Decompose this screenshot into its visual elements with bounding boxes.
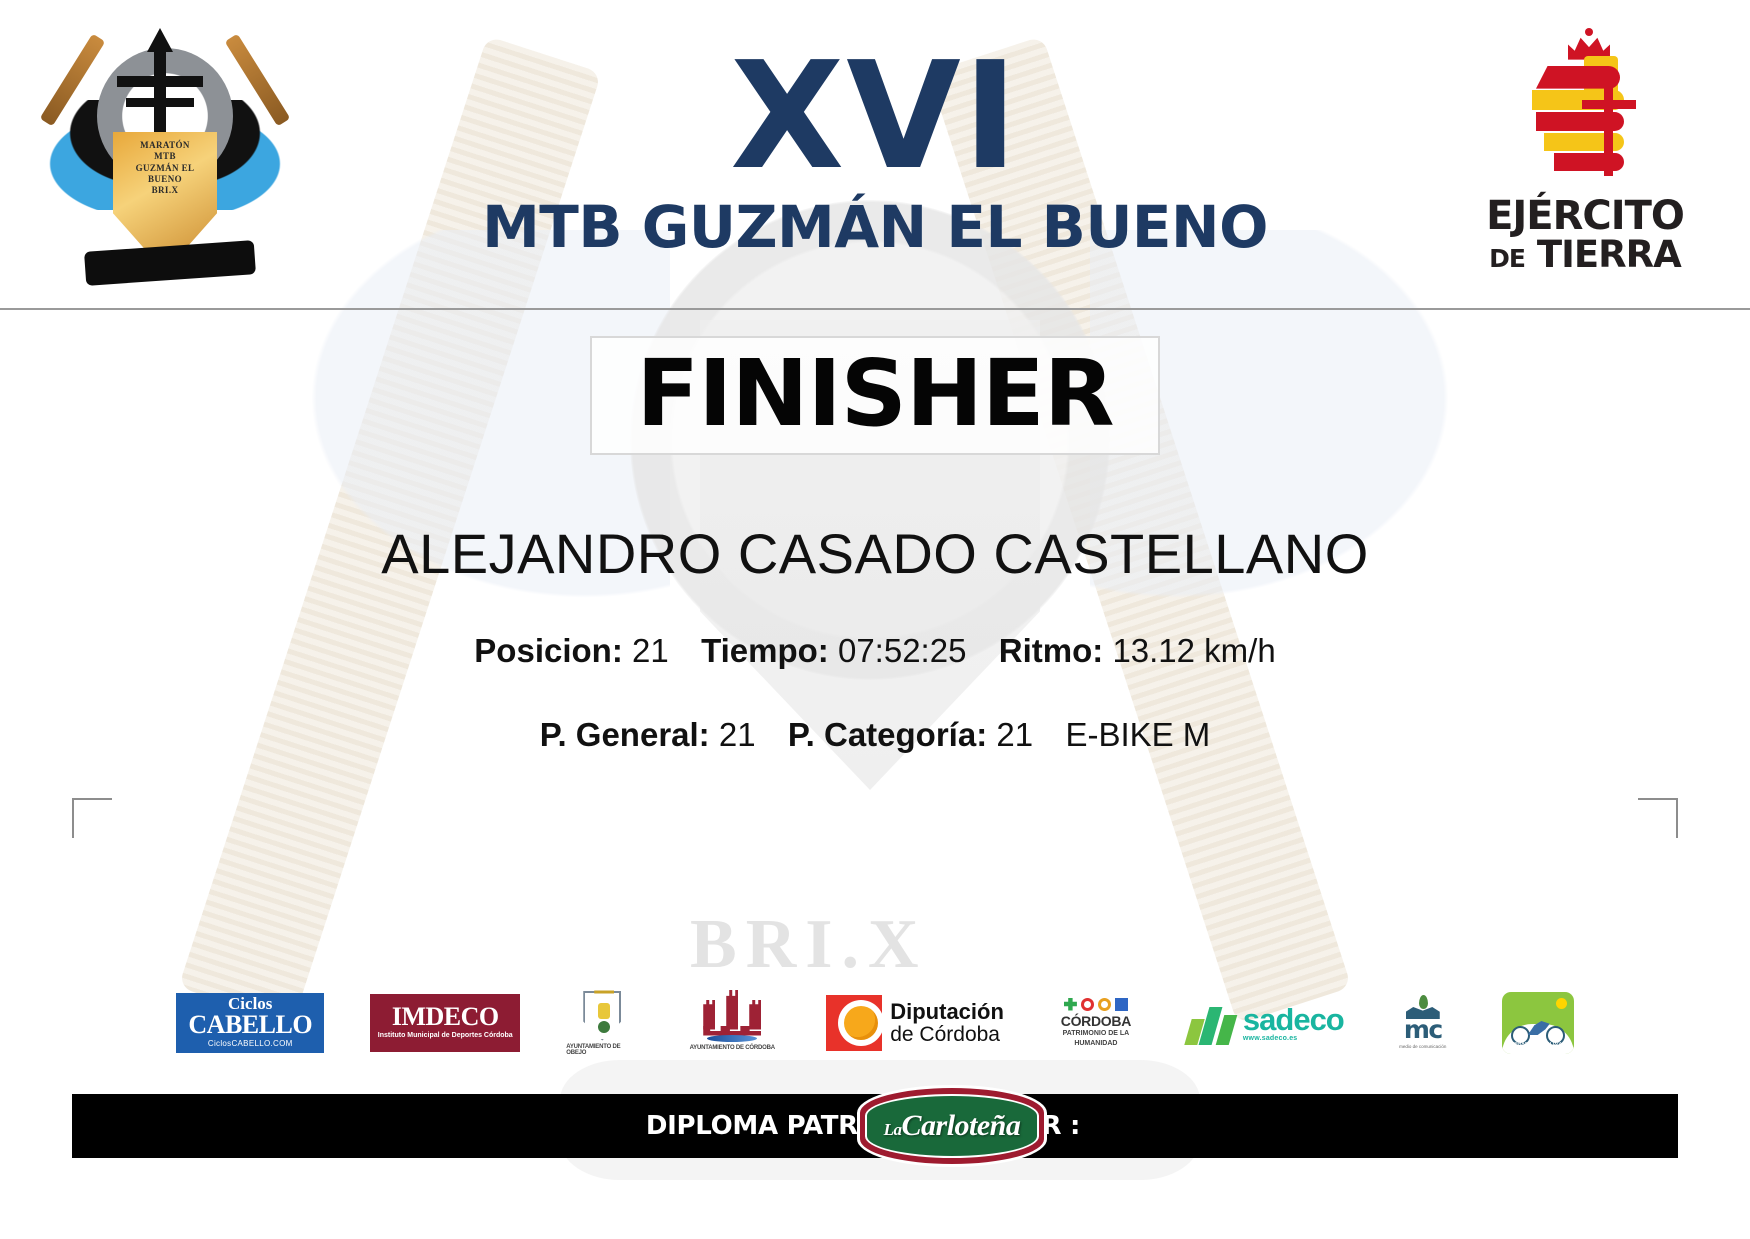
header-right: EJÉRCITO DE TIERRA	[1420, 34, 1750, 275]
logo-text-line1: MARATÓN	[140, 140, 190, 151]
crop-mark-top-right	[1638, 798, 1678, 838]
athlete-name: ALEJANDRO CASADO CASTELLANO	[0, 521, 1750, 586]
time-label: Tiempo:	[701, 632, 829, 669]
cabello-line3: CiclosCABELLO.COM	[208, 1038, 293, 1051]
patrimonio-icons	[1064, 998, 1128, 1011]
pace-label: Ritmo:	[999, 632, 1103, 669]
event-edition: XVI	[330, 47, 1420, 186]
mc-leaf-icon	[1419, 995, 1428, 1009]
stats-row-secondary: P. General: 21 P. Categoría: 21 E-BIKE M	[0, 716, 1750, 754]
mc-line2: medio de comunicación	[1399, 1044, 1446, 1049]
imdeco-line2: Instituto Municipal de Deportes Córdoba	[378, 1030, 513, 1043]
sponsor-ayuntamiento-cordoba: AYUNTAMIENTO DE CÓRDOBA	[684, 996, 780, 1051]
cabello-line2: CABELLO	[188, 1012, 312, 1038]
logo-text-line2: MTB	[154, 151, 176, 162]
cordoba-ayuntamiento-caption: AYUNTAMIENTO DE CÓRDOBA	[690, 1045, 775, 1051]
carlotena-text: LaCarloteña	[884, 1109, 1021, 1143]
logo-cross-bar-lower-icon	[126, 98, 194, 107]
carlotena-brand: Carloteña	[902, 1109, 1021, 1142]
category-name: E-BIKE M	[1065, 716, 1210, 753]
federacion-caption: FEDERACIÓN ANDALUZA DE CICLISMO	[1506, 1041, 1570, 1053]
obejo-coat-of-arms-icon	[583, 991, 621, 1041]
patrimonio-ring-orange-icon	[1098, 998, 1111, 1011]
header: MARATÓN MTB GUZMÁN EL BUENO BRI.X XVI MT…	[0, 0, 1750, 310]
sponsor-ayuntamiento-obejo: AYUNTAMIENTO DE OBEJO	[566, 991, 638, 1056]
river-icon	[707, 1035, 757, 1042]
diploma-page: BRI.X MARATÓN MTB GUZMÁN EL BUENO	[0, 0, 1750, 1239]
header-left: MARATÓN MTB GUZMÁN EL BUENO BRI.X	[0, 14, 330, 294]
logo-ribbon-icon	[84, 240, 256, 286]
sponsor-row: Ciclos CABELLO CiclosCABELLO.COM IMDECO …	[0, 968, 1750, 1078]
patrimonio-square-blue-icon	[1115, 998, 1128, 1011]
emblem-band-5-icon	[1554, 153, 1624, 171]
finisher-title-wrap: FINISHER	[0, 336, 1750, 455]
event-name: MTB GUZMÁN EL BUENO	[330, 193, 1420, 261]
federacion-sun-icon	[1556, 998, 1567, 1009]
logo-cross-bar-upper-icon	[117, 76, 203, 87]
patrimonio-ring-red-icon	[1081, 998, 1094, 1011]
castle-tower-1-icon	[703, 1000, 715, 1030]
position-label: Posicion:	[474, 632, 623, 669]
castle-tower-2-icon	[726, 990, 738, 1030]
athlete-block: ALEJANDRO CASADO CASTELLANO Posicion: 21…	[0, 521, 1750, 754]
santiago-cross-horizontal-icon	[1582, 100, 1636, 109]
time-value: 07:52:25	[838, 632, 966, 669]
castle-tower-3-icon	[749, 1000, 761, 1030]
mc-mark-icon	[1406, 997, 1440, 1017]
category-position-label: P. Categoría:	[788, 716, 987, 753]
diputacion-line2: de Córdoba	[890, 1024, 1004, 1046]
logo-text-line4: BUENO	[148, 174, 182, 185]
header-title-block: XVI MTB GUZMÁN EL BUENO	[330, 47, 1420, 260]
carlotena-prefix: La	[884, 1120, 902, 1139]
finisher-box: FINISHER	[590, 336, 1159, 455]
patrimonio-line1: CÓRDOBA	[1061, 1014, 1131, 1029]
patrimonio-cross-icon	[1064, 998, 1077, 1011]
sadeco-line1: sadeco	[1243, 1004, 1344, 1035]
sadeco-mark-icon	[1188, 1001, 1236, 1045]
sadeco-text: sadeco www.sadeco.es	[1243, 1004, 1344, 1042]
crown-finial-icon	[1585, 28, 1593, 36]
army-label-line2: DE TIERRA	[1489, 236, 1681, 275]
sponsor-imdeco: IMDECO Instituto Municipal de Deportes C…	[370, 994, 520, 1052]
obejo-figure-icon	[598, 1003, 610, 1019]
event-logo: MARATÓN MTB GUZMÁN EL BUENO BRI.X	[25, 14, 305, 294]
sponsor-sadeco: sadeco www.sadeco.es	[1188, 1001, 1344, 1045]
crop-mark-top-left	[72, 798, 112, 838]
sponsor-diputacion-cordoba: Diputación de Córdoba	[826, 995, 1004, 1051]
diputacion-lion-icon	[844, 1006, 878, 1040]
diputacion-text: Diputación de Córdoba	[890, 1000, 1004, 1045]
mc-line1: mc	[1404, 1017, 1442, 1042]
stats-row-primary: Posicion: 21 Tiempo: 07:52:25 Ritmo: 13.…	[0, 632, 1750, 670]
carlotena-logo: LaCarloteña	[857, 1085, 1047, 1167]
army-label-tierra: TIERRA	[1537, 233, 1681, 276]
army-label-line1: EJÉRCITO	[1486, 196, 1684, 236]
obejo-crown-icon	[594, 983, 614, 994]
sponsor-federacion-andaluza-ciclismo: FEDERACIÓN ANDALUZA DE CICLISMO	[1502, 992, 1574, 1054]
finisher-title: FINISHER	[636, 340, 1113, 447]
army-emblem-icon	[1510, 34, 1660, 194]
pace-value: 13.12 km/h	[1112, 632, 1275, 669]
sponsor-cordoba-patrimonio: CÓRDOBA PATRIMONIO DE LA HUMANIDAD	[1050, 998, 1142, 1049]
army-logo: EJÉRCITO DE TIERRA	[1486, 34, 1684, 275]
patrimonio-line2: PATRIMONIO DE LA HUMANIDAD	[1050, 1029, 1142, 1049]
diputacion-mark-icon	[826, 995, 882, 1051]
imdeco-line1: IMDECO	[392, 1004, 499, 1030]
sponsor-mc: mc medio de comunicación	[1390, 997, 1456, 1049]
army-label-prefix: DE	[1489, 244, 1525, 273]
diputacion-line1: Diputación	[890, 1000, 1004, 1023]
cordoba-castle-icon	[701, 996, 763, 1042]
general-position-label: P. General:	[540, 716, 710, 753]
santiago-cross-vertical-icon	[1604, 76, 1613, 176]
logo-text-line3: GUZMÁN EL	[136, 163, 195, 174]
obejo-caption: AYUNTAMIENTO DE OBEJO	[566, 1044, 638, 1056]
position-value: 21	[632, 632, 669, 669]
general-position-value: 21	[719, 716, 756, 753]
obejo-tree-icon	[598, 1021, 610, 1033]
logo-text-line5: BRI.X	[152, 185, 179, 196]
sponsor-ciclos-cabello: Ciclos CABELLO CiclosCABELLO.COM	[176, 993, 324, 1053]
footer-sponsor-bar: DIPLOMA PATROCINADO POR : LaCarloteña	[72, 1094, 1678, 1158]
category-position-value: 21	[996, 716, 1033, 753]
